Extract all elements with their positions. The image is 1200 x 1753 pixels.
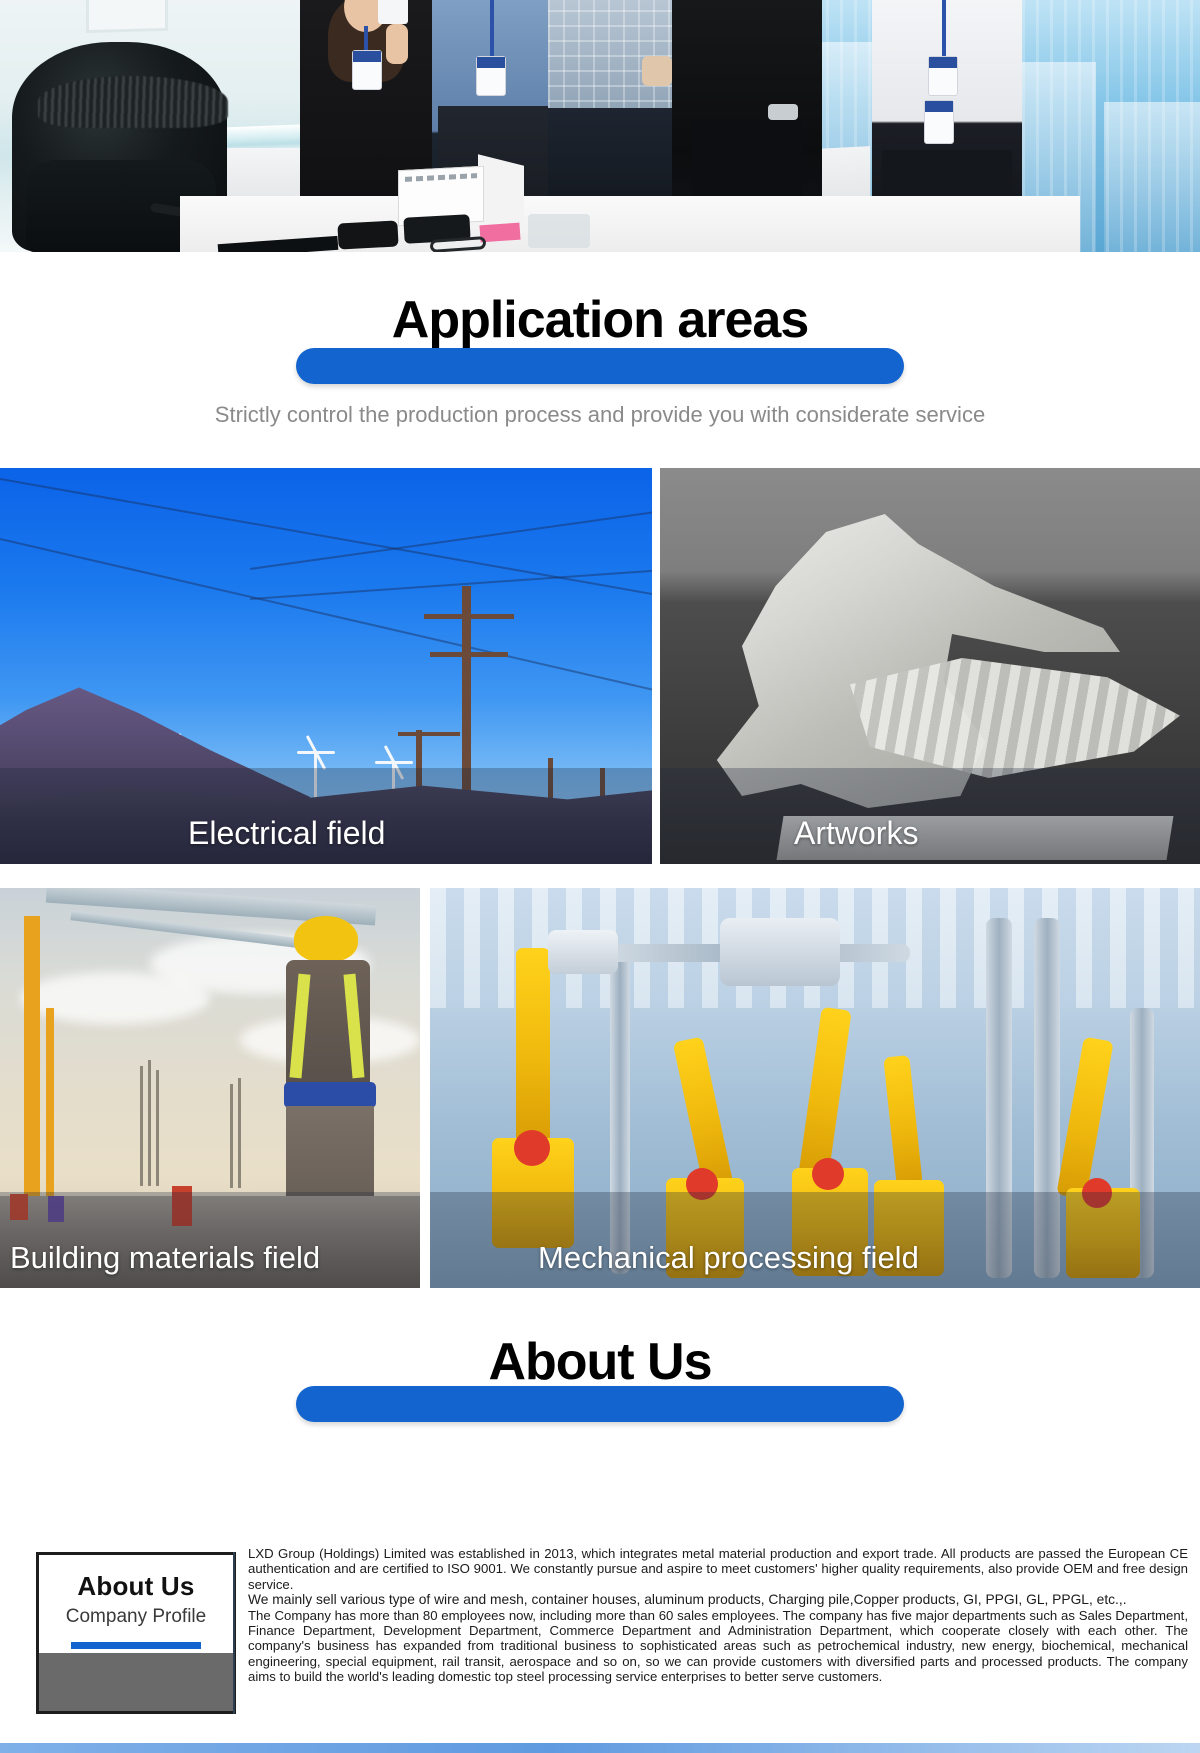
- page-title: Application areas: [0, 252, 1200, 350]
- about-card-band: [39, 1653, 233, 1711]
- tile-gradient-overlay: [660, 768, 1200, 864]
- rebar: [230, 1084, 233, 1188]
- about-us-header: About Us: [0, 1318, 1200, 1436]
- profile-paragraph-3: The Company has more than 80 employees n…: [248, 1608, 1188, 1685]
- profile-paragraph-2: We mainly sell various type of wire and …: [248, 1592, 1188, 1607]
- eyeglasses: [430, 236, 487, 252]
- bottom-blue-strip: [0, 1743, 1200, 1753]
- tile-building-materials-field[interactable]: Building materials field: [0, 888, 420, 1288]
- company-profile-text: LXD Group (Holdings) Limited was establi…: [248, 1546, 1188, 1685]
- tile-electrical-field[interactable]: Electrical field: [0, 468, 652, 864]
- application-subtitle: Strictly control the production process …: [0, 402, 1200, 428]
- rebar: [238, 1078, 241, 1188]
- banner-scene: [0, 0, 1200, 252]
- plastic-bag: [528, 214, 590, 248]
- phone-1: [337, 220, 398, 249]
- about-card-heading: About Us: [39, 1571, 233, 1602]
- about-card-rule: [71, 1642, 201, 1649]
- tile-label: Electrical field: [188, 815, 385, 852]
- application-title-pill: [296, 348, 904, 384]
- wall-frame: [86, 0, 168, 33]
- pole-crossarm: [430, 652, 508, 657]
- about-us-card: About Us Company Profile: [36, 1552, 236, 1714]
- tile-label: Artworks: [794, 815, 918, 852]
- about-card-subheading: Company Profile: [39, 1606, 233, 1628]
- car-body-shell: [548, 930, 618, 974]
- hard-hat: [294, 916, 358, 962]
- robot-joint: [514, 1130, 550, 1166]
- pink-notepad: [479, 223, 520, 243]
- tile-artworks[interactable]: Artworks: [660, 468, 1200, 864]
- crane-lattice: [24, 916, 40, 1216]
- rebar: [156, 1070, 159, 1186]
- application-areas-header: Application areas: [0, 252, 1200, 372]
- harness-belt: [284, 1082, 376, 1108]
- rebar: [148, 1060, 151, 1186]
- car-body-shell: [720, 918, 840, 986]
- about-title: About Us: [0, 1318, 1200, 1392]
- crane-mast-2: [46, 1008, 54, 1218]
- profile-paragraph-1: LXD Group (Holdings) Limited was establi…: [248, 1546, 1188, 1592]
- tile-mechanical-processing-field[interactable]: Mechanical processing field: [430, 888, 1200, 1288]
- application-tiles-grid: Electrical field Artworks: [0, 468, 1200, 1308]
- tile-label: Mechanical processing field: [538, 1240, 919, 1276]
- about-vertical-divider: [233, 1552, 235, 1714]
- rebar: [140, 1066, 143, 1186]
- robot-joint: [812, 1158, 844, 1190]
- hero-banner-photo: [0, 0, 1200, 252]
- pole-crossarm: [398, 732, 460, 736]
- tile-label: Building materials field: [10, 1240, 320, 1276]
- robot-arm: [516, 948, 550, 1148]
- pole-crossarm: [424, 614, 514, 619]
